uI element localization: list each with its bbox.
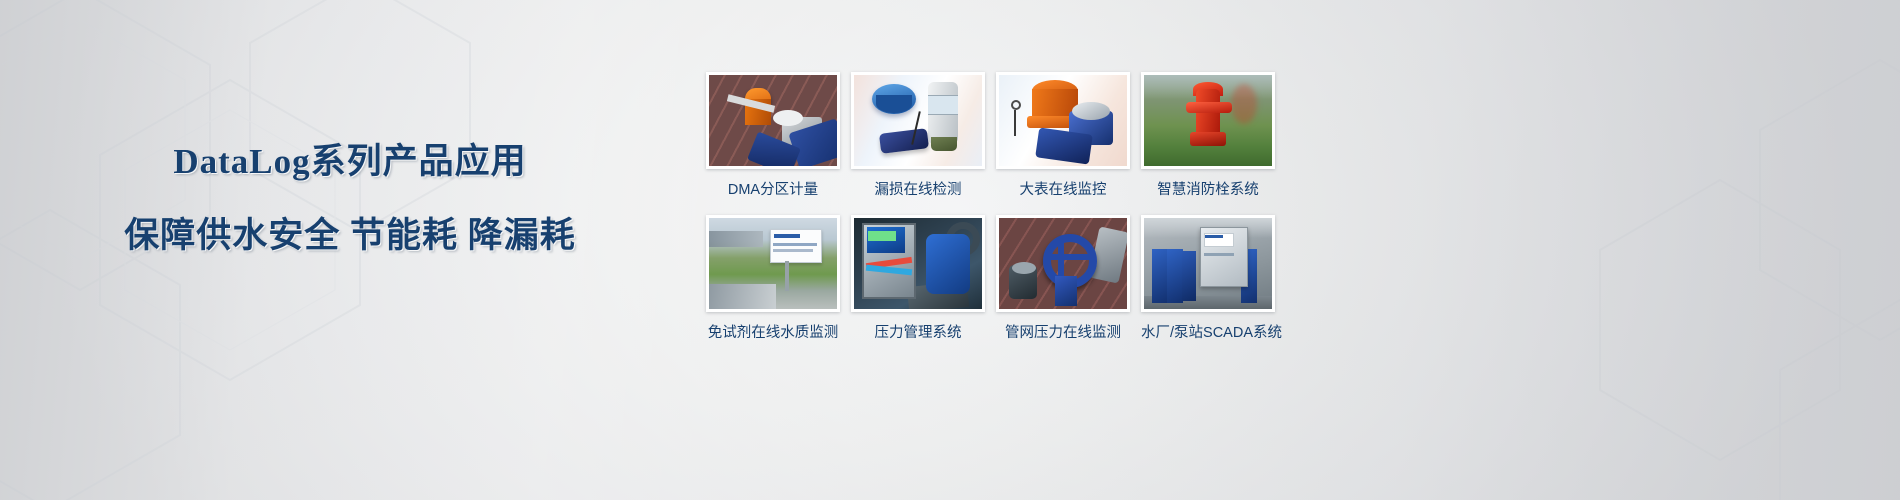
- product-image-large-meter-monitor: [999, 75, 1127, 166]
- product-caption-reagent-free-quality: 免试剂在线水质监测: [706, 321, 840, 342]
- headline-primary: DataLog系列产品应用: [0, 140, 700, 184]
- product-caption-dma-metering: DMA分区计量: [706, 178, 840, 199]
- hexagon-pattern-right-icon: [1500, 40, 1900, 500]
- product-card-large-meter-monitor[interactable]: 大表在线监控: [996, 72, 1130, 208]
- product-thumbnail-dma-metering[interactable]: [706, 72, 840, 169]
- product-card-plant-scada-system[interactable]: 水厂/泵站SCADA系统: [1141, 215, 1275, 351]
- product-application-banner: DataLog系列产品应用 保障供水安全 节能耗 降漏耗 DMA分区计量: [0, 0, 1900, 500]
- product-card-pressure-management[interactable]: 压力管理系统: [851, 215, 985, 351]
- product-cards-grid: DMA分区计量 漏损在线检测 大表在线监控: [706, 72, 1286, 358]
- product-caption-smart-hydrant-system: 智慧消防栓系统: [1141, 178, 1275, 199]
- product-image-smart-hydrant-system: [1144, 75, 1272, 166]
- product-image-pressure-management: [854, 218, 982, 309]
- product-image-reagent-free-quality: [709, 218, 837, 309]
- product-thumbnail-smart-hydrant-system[interactable]: [1141, 72, 1275, 169]
- product-image-dma-metering: [709, 75, 837, 166]
- product-thumbnail-pipe-pressure-monitor[interactable]: [996, 215, 1130, 312]
- product-thumbnail-large-meter-monitor[interactable]: [996, 72, 1130, 169]
- product-card-dma-metering[interactable]: DMA分区计量: [706, 72, 840, 208]
- product-thumbnail-leak-online-detection[interactable]: [851, 72, 985, 169]
- headline-secondary: 保障供水安全 节能耗 降漏耗: [0, 207, 700, 258]
- product-image-leak-online-detection: [854, 75, 982, 166]
- product-caption-leak-online-detection: 漏损在线检测: [851, 178, 985, 199]
- headline-block: DataLog系列产品应用 保障供水安全 节能耗 降漏耗: [0, 140, 700, 258]
- product-card-leak-online-detection[interactable]: 漏损在线检测: [851, 72, 985, 208]
- product-caption-pipe-pressure-monitor: 管网压力在线监测: [996, 321, 1130, 342]
- product-caption-pressure-management: 压力管理系统: [851, 321, 985, 342]
- product-cards-row-2: 免试剂在线水质监测 压力管理系统 管网压力在线监测: [706, 215, 1286, 351]
- product-thumbnail-plant-scada-system[interactable]: [1141, 215, 1275, 312]
- product-thumbnail-reagent-free-quality[interactable]: [706, 215, 840, 312]
- product-caption-large-meter-monitor: 大表在线监控: [996, 178, 1130, 199]
- product-cards-row-1: DMA分区计量 漏损在线检测 大表在线监控: [706, 72, 1286, 208]
- product-image-pipe-pressure-monitor: [999, 218, 1127, 309]
- product-card-reagent-free-quality[interactable]: 免试剂在线水质监测: [706, 215, 840, 351]
- product-caption-plant-scada-system: 水厂/泵站SCADA系统: [1141, 321, 1275, 342]
- product-card-pipe-pressure-monitor[interactable]: 管网压力在线监测: [996, 215, 1130, 351]
- product-thumbnail-pressure-management[interactable]: [851, 215, 985, 312]
- product-card-smart-hydrant-system[interactable]: 智慧消防栓系统: [1141, 72, 1275, 208]
- product-image-plant-scada-system: [1144, 218, 1272, 309]
